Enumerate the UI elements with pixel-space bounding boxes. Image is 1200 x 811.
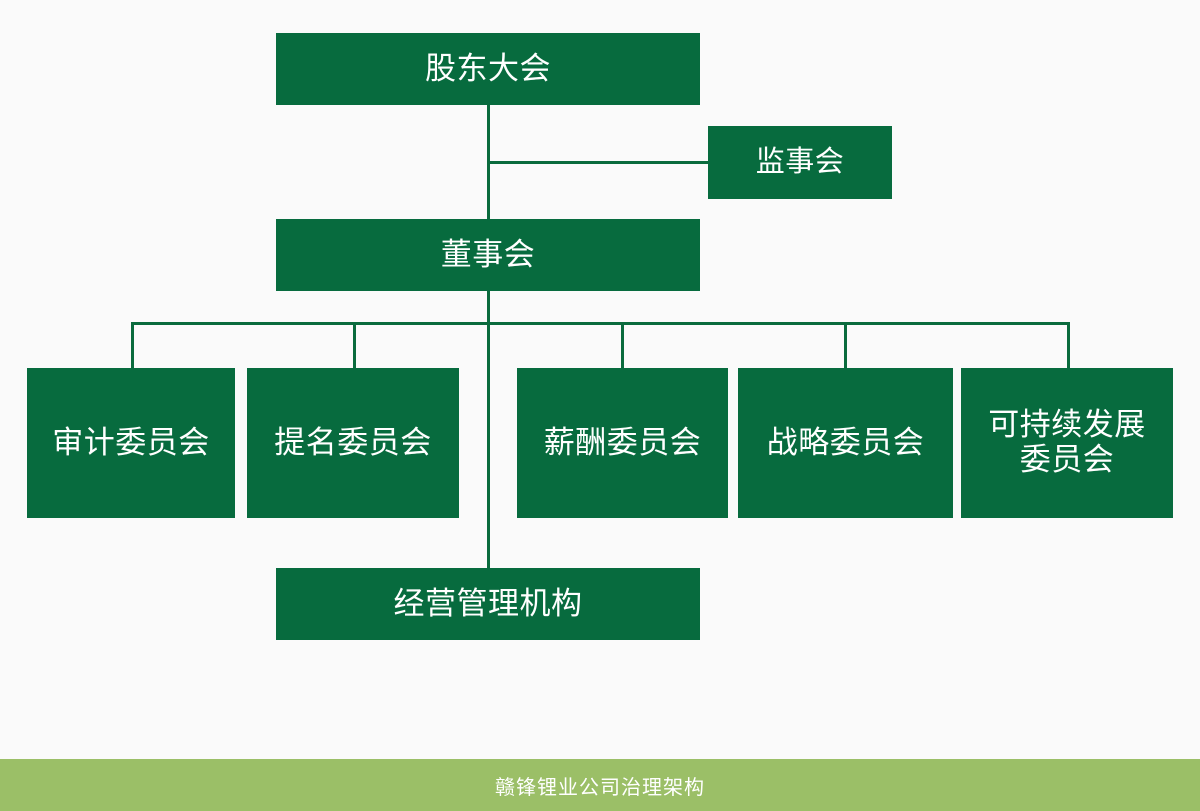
node-board-of-supervisors: 监事会 (708, 126, 892, 199)
connector-drop-committee-2 (353, 322, 356, 368)
node-committee-remuneration: 薪酬委员会 (517, 368, 728, 518)
node-committee-audit: 审计委员会 (27, 368, 235, 518)
node-committee-sustainable-development: 可持续发展 委员会 (961, 368, 1173, 518)
node-committee-nomination: 提名委员会 (247, 368, 459, 518)
connector-drop-committee-5 (1067, 322, 1070, 368)
node-committee-strategy: 战略委员会 (738, 368, 953, 518)
node-operating-management: 经营管理机构 (276, 568, 700, 640)
chart-canvas: 股东大会 监事会 董事会 审计委员会 提名委员会 薪酬委员会 战略委员会 可持续… (0, 0, 1200, 751)
caption-title: 赣锋锂业公司治理架构 (495, 771, 705, 800)
connector-committee-bus (131, 322, 1070, 325)
connector-board-to-management (487, 291, 490, 568)
node-shareholders-meeting: 股东大会 (276, 33, 700, 105)
connector-to-supervisors (487, 161, 708, 164)
connector-drop-committee-1 (131, 322, 134, 368)
connector-drop-committee-3 (621, 322, 624, 368)
connector-drop-committee-4 (844, 322, 847, 368)
caption-bar: 赣锋锂业公司治理架构 (0, 759, 1200, 811)
node-board-of-directors: 董事会 (276, 219, 700, 291)
org-chart-container: 股东大会 监事会 董事会 审计委员会 提名委员会 薪酬委员会 战略委员会 可持续… (0, 0, 1200, 811)
